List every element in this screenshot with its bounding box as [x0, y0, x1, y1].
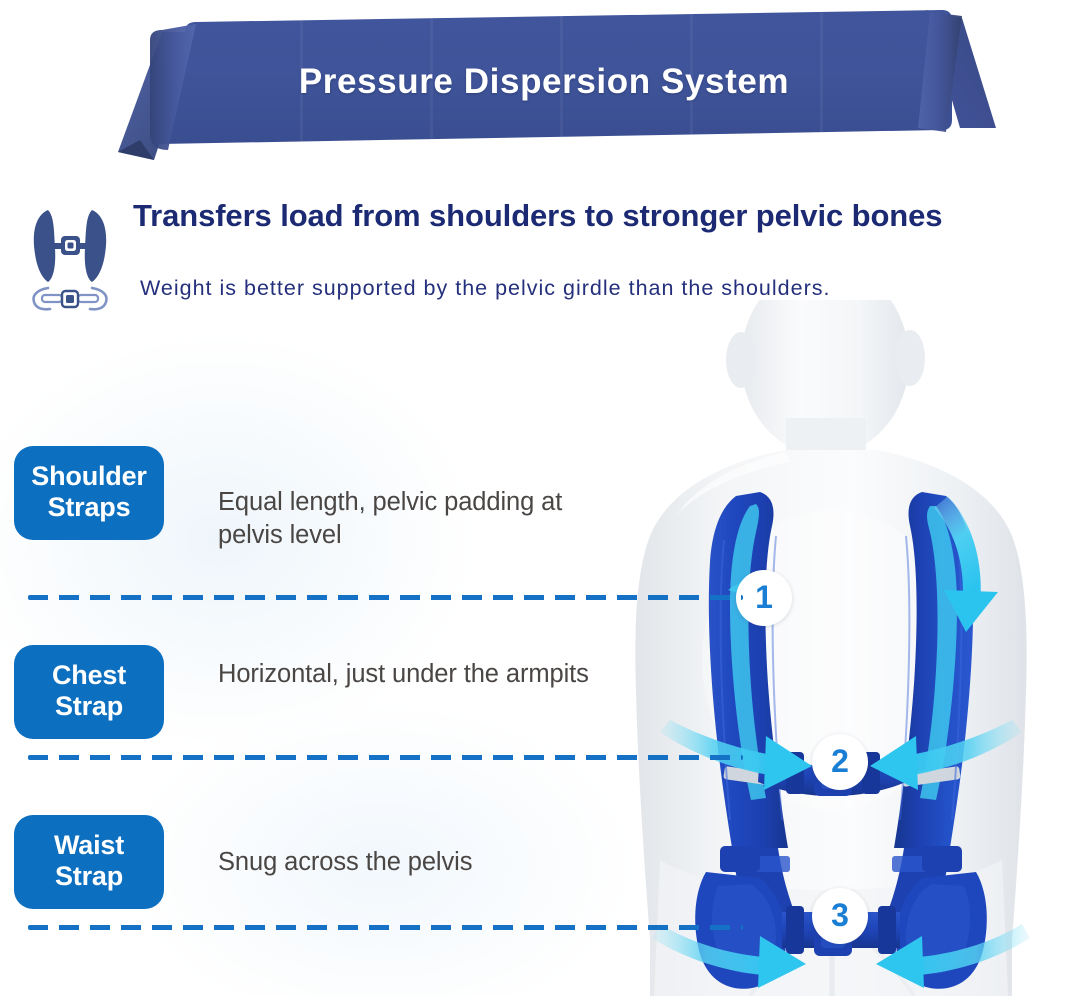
ribbon-shape [0, 0, 1080, 180]
badge-line-1: Shoulder [28, 461, 150, 492]
headline-subtitle: Weight is better supported by the pelvic… [140, 276, 1060, 301]
description-chest-strap: Horizontal, just under the armpits [218, 658, 618, 691]
badge-line-1: Waist [28, 830, 150, 861]
photo-marker-2: 2 [812, 734, 868, 790]
badge-line-2: Straps [28, 492, 150, 523]
badge-line-1: Chest [28, 660, 150, 691]
photo-marker-3: 3 [812, 888, 868, 944]
badge-line-2: Strap [28, 861, 150, 892]
description-shoulder-straps: Equal length, pelvic padding at pelvis l… [218, 486, 618, 551]
description-waist-strap: Snug across the pelvis [218, 846, 638, 879]
badge-waist-strap[interactable]: Waist Strap [14, 815, 164, 909]
infographic-page: Pressure Dispersion System Transfers loa… [0, 0, 1080, 996]
badge-line-2: Strap [28, 691, 150, 722]
title-ribbon: Pressure Dispersion System [0, 0, 1080, 180]
harness-buckle-icon [18, 202, 122, 314]
guide-line-2 [28, 755, 743, 760]
headline-title: Transfers load from shoulders to stronge… [133, 196, 1033, 236]
guide-line-1 [28, 595, 743, 600]
badge-chest-strap[interactable]: Chest Strap [14, 645, 164, 739]
harness-photo: 1 2 3 [600, 300, 1080, 996]
photo-marker-1: 1 [736, 570, 792, 626]
badge-shoulder-straps[interactable]: Shoulder Straps [14, 446, 164, 540]
guide-line-3 [28, 925, 743, 930]
